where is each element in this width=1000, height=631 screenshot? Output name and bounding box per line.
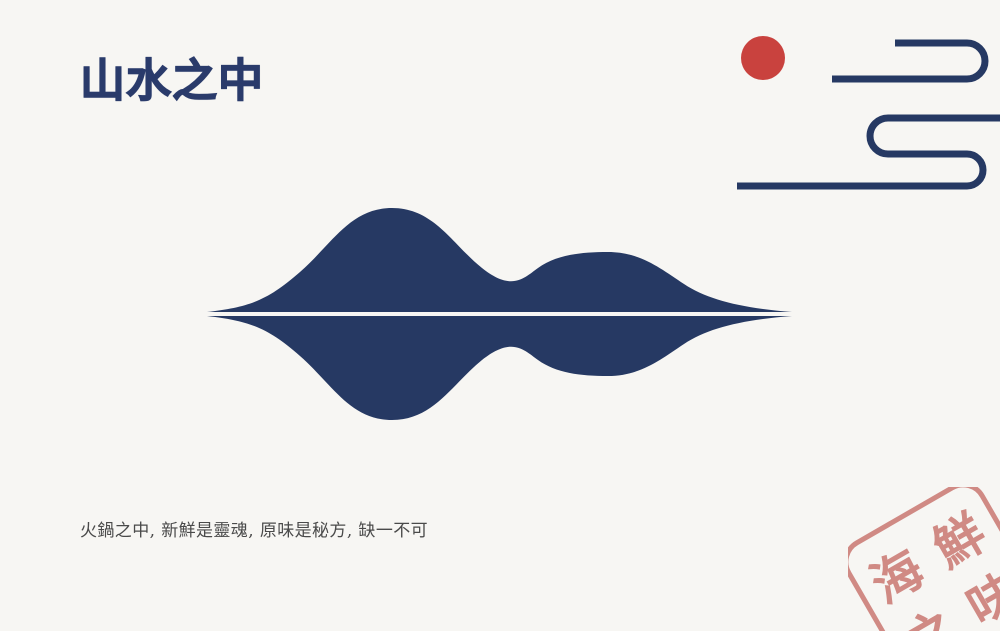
meander-cloud-line-bottom [737, 118, 1000, 186]
page-title: 山水之中 [80, 55, 264, 107]
meander-cloud-line-top [832, 43, 985, 79]
emblem-lower-reflection [207, 316, 792, 420]
emblem-upper-mountain [207, 208, 792, 312]
tagline: 火鍋之中, 新鮮是靈魂, 原味是秘方, 缺一不可 [80, 518, 428, 544]
seal-svg: 海 鮮 之 味 [848, 487, 1000, 631]
sun-dot [741, 36, 785, 80]
corner-seal-stamp: 海 鮮 之 味 [848, 487, 1000, 631]
seal-char-2: 鮮 [923, 503, 996, 579]
seal-char-1: 海 [861, 539, 934, 615]
poster-canvas: 海 鮮 之 味 山水之中 火鍋之中, 新鮮是靈魂, 原味是秘方, 缺一不可 [0, 0, 1000, 631]
